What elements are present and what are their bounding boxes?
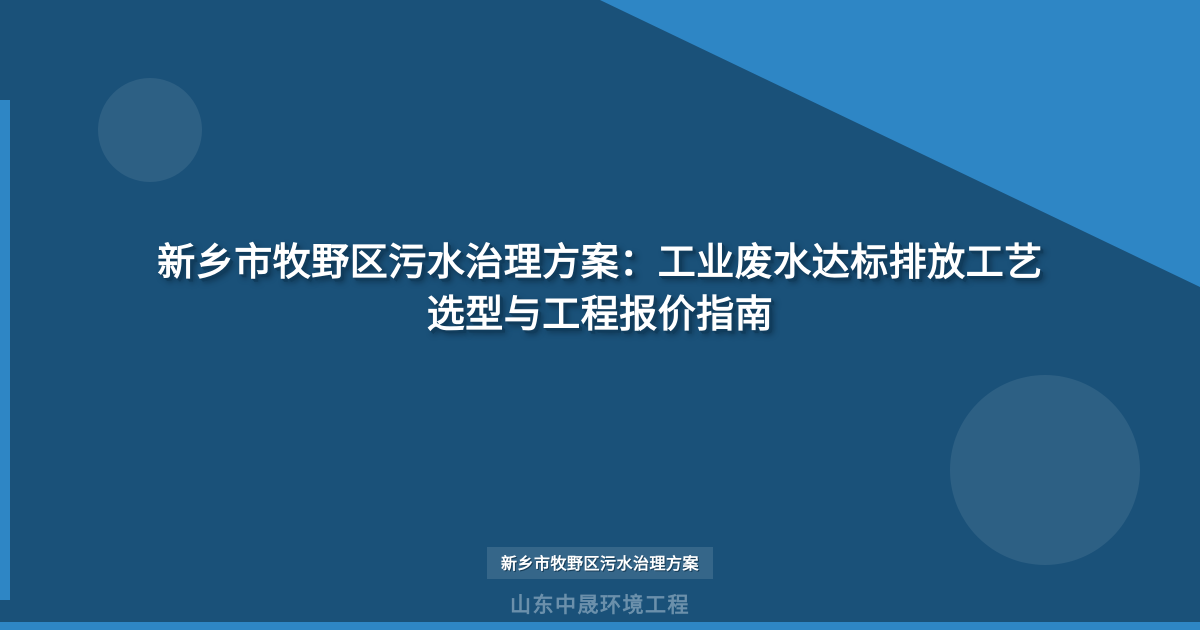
cover-card: 新乡市牧野区污水治理方案：工业废水达标排放工艺选型与工程报价指南 新乡市牧野区污…: [0, 0, 1200, 630]
title-container: 新乡市牧野区污水治理方案：工业废水达标排放工艺选型与工程报价指南: [0, 0, 1200, 630]
page-title: 新乡市牧野区污水治理方案：工业废水达标排放工艺选型与工程报价指南: [145, 237, 1055, 342]
page-title-text: 新乡市牧野区污水治理方案：工业废水达标排放工艺选型与工程报价指南: [157, 242, 1043, 336]
